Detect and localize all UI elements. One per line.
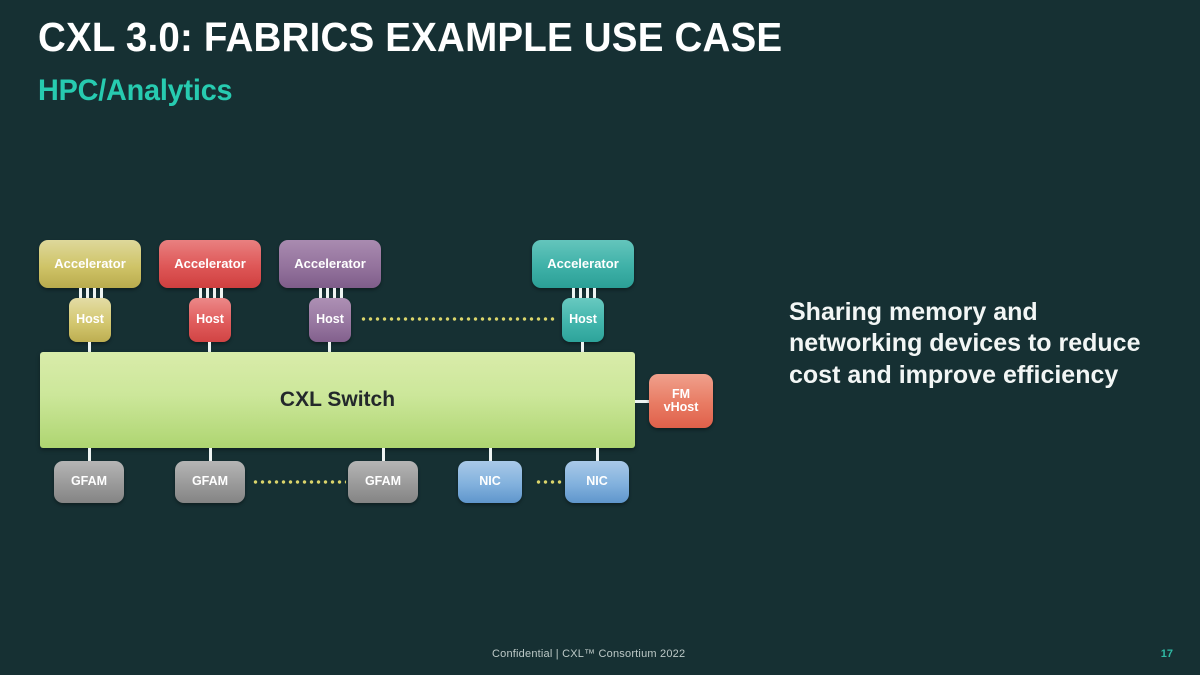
fm-vhost-line2: vHost (664, 401, 699, 415)
host-node-2[interactable]: Host (189, 298, 231, 342)
host-label-3: Host (316, 313, 344, 327)
nic-node-2[interactable]: NIC (565, 461, 629, 503)
accelerator-label-1: Accelerator (54, 257, 126, 271)
switch-fmvhost-connector (635, 400, 649, 403)
switch-gfam-connector-2 (209, 448, 212, 462)
gfam-label-3: GFAM (365, 475, 401, 489)
caption-text: Sharing memory and networking devices to… (789, 297, 1149, 391)
footer-confidential: Confidential | CXL™ Consortium 2022 (492, 648, 685, 660)
accelerator-node-1[interactable]: Accelerator (39, 240, 141, 288)
gfam-node-1[interactable]: GFAM (54, 461, 124, 503)
gfam-label-1: GFAM (71, 475, 107, 489)
fm-vhost-node[interactable]: FM vHost (649, 374, 713, 428)
accelerator-node-2[interactable]: Accelerator (159, 240, 261, 288)
host-node-3[interactable]: Host (309, 298, 351, 342)
page-subtitle: HPC/Analytics (38, 74, 232, 108)
host-node-4[interactable]: Host (562, 298, 604, 342)
switch-nic-connector-1 (489, 448, 492, 462)
nic-label-1: NIC (479, 475, 501, 489)
page-title: CXL 3.0: FABRICS EXAMPLE USE CASE (38, 14, 782, 61)
switch-gfam-connector-1 (88, 448, 91, 462)
gfam-label-2: GFAM (192, 475, 228, 489)
nic-node-1[interactable]: NIC (458, 461, 522, 503)
accelerator-label-3: Accelerator (294, 257, 366, 271)
switch-nic-connector-2 (596, 448, 599, 462)
dotted-link-gfam2-gfam3 (252, 480, 346, 484)
nic-label-2: NIC (586, 475, 608, 489)
accelerator-node-3[interactable]: Accelerator (279, 240, 381, 288)
accelerator-label-2: Accelerator (174, 257, 246, 271)
accelerator-node-4[interactable]: Accelerator (532, 240, 634, 288)
host-label-4: Host (569, 313, 597, 327)
dotted-link-host3-host4 (360, 317, 556, 321)
gfam-node-2[interactable]: GFAM (175, 461, 245, 503)
switch-gfam-connector-3 (382, 448, 385, 462)
slide-canvas: CXL 3.0: FABRICS EXAMPLE USE CASE HPC/An… (0, 0, 1200, 675)
cxl-switch-node[interactable]: CXL Switch (40, 352, 635, 448)
accelerator-label-4: Accelerator (547, 257, 619, 271)
host-label-2: Host (196, 313, 224, 327)
page-number: 17 (1161, 648, 1173, 660)
host-node-1[interactable]: Host (69, 298, 111, 342)
dotted-link-nic1-nic2 (535, 480, 563, 484)
gfam-node-3[interactable]: GFAM (348, 461, 418, 503)
cxl-switch-label: CXL Switch (280, 388, 395, 412)
host-label-1: Host (76, 313, 104, 327)
fm-vhost-line1: FM (672, 388, 690, 402)
